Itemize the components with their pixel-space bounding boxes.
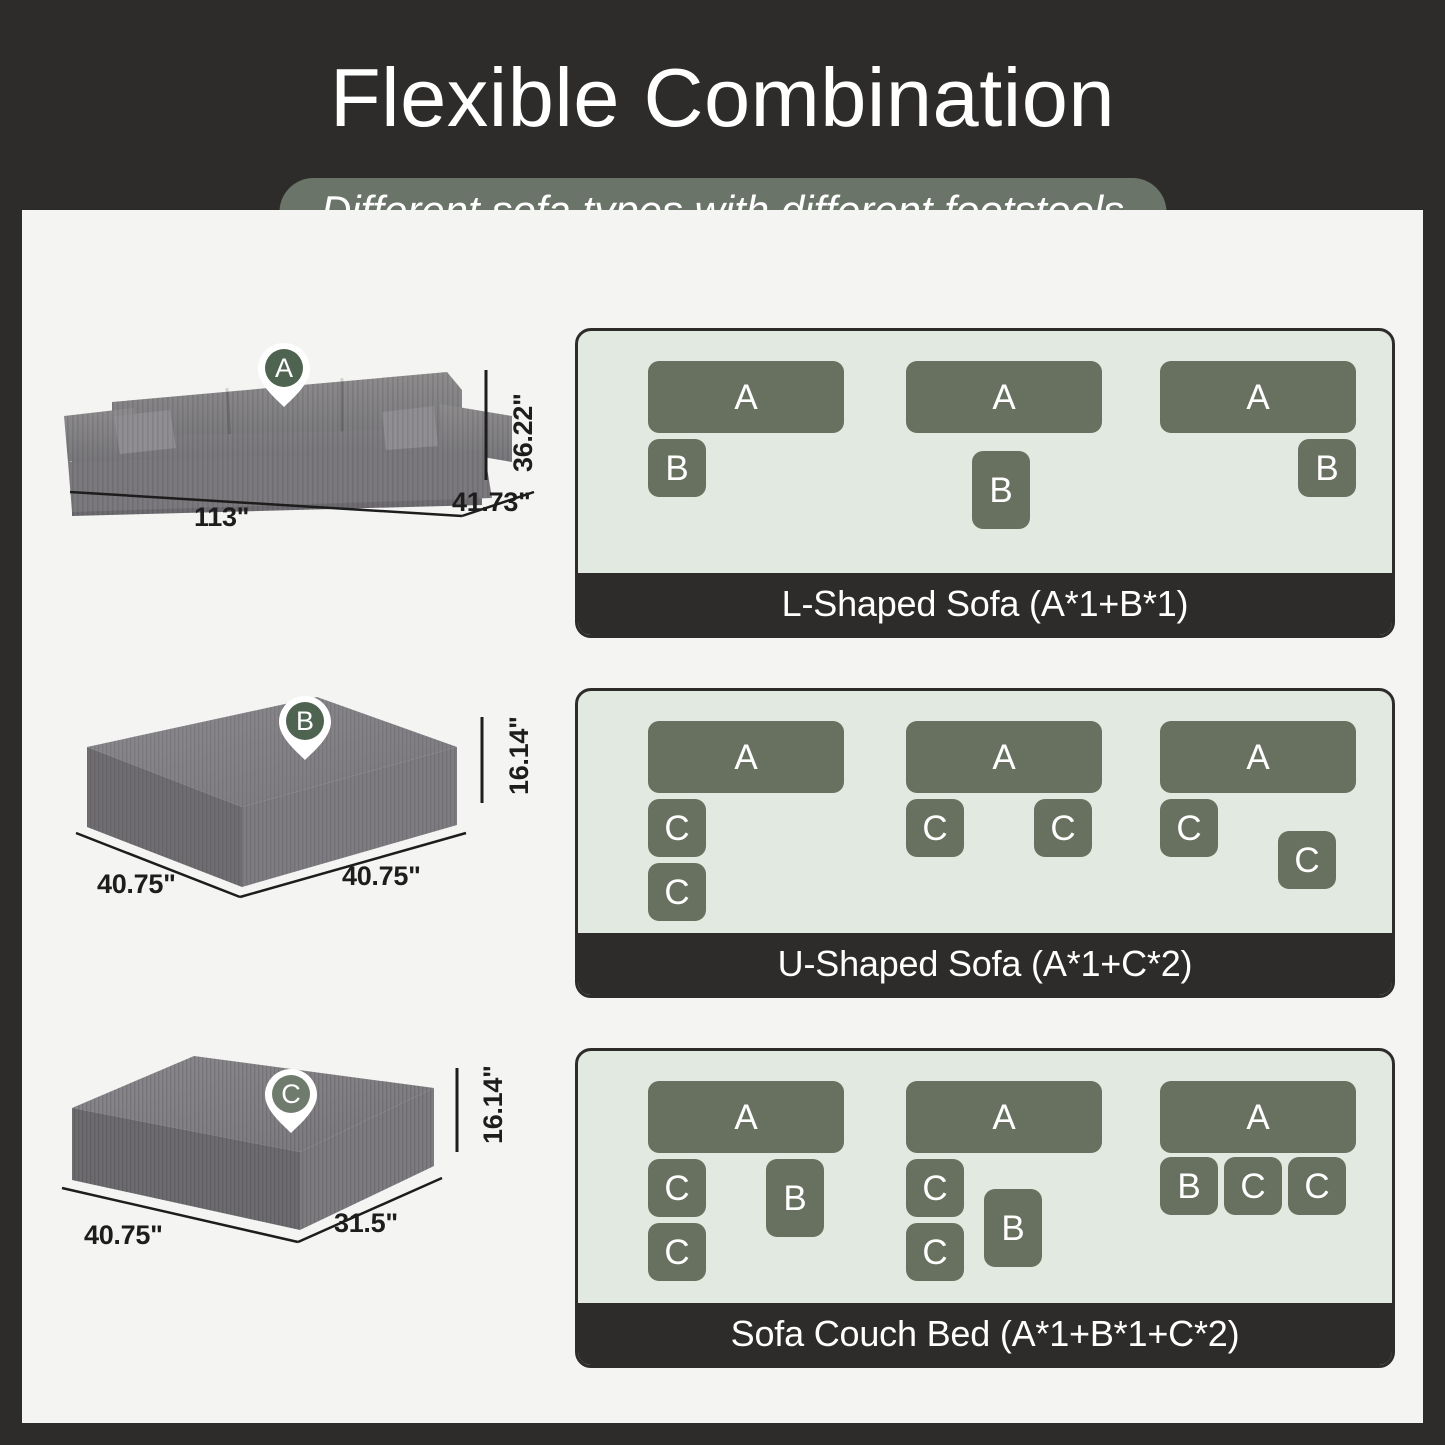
module-block-a: A — [1160, 1081, 1356, 1153]
panel-body: ACC ACC ACC — [578, 691, 1392, 933]
module-block-a: A — [906, 361, 1102, 433]
poster-header: Flexible Combination Different sofa type… — [0, 0, 1445, 210]
config-group: ACC — [628, 691, 858, 933]
module-block-c: C — [648, 863, 706, 921]
panel-caption: L-Shaped Sofa (A*1+B*1) — [578, 573, 1392, 635]
combination-panel-u-shaped: ACC ACC ACC U-Shaped Sofa (A*1+C*2) — [575, 688, 1395, 998]
module-block-c: C — [648, 1159, 706, 1217]
module-block-b: B — [648, 439, 706, 497]
config-group: ABCC — [1140, 1051, 1370, 1303]
combination-panel-l-shaped: AB AB AB L-Shaped Sofa (A*1+B*1) — [575, 328, 1395, 638]
product-figure-b: B 40.75" 40.75" 16.14" — [42, 675, 562, 1005]
product-figure-c: C 40.75" 31.5" 16.14" — [42, 1030, 562, 1360]
pin-badge-b: B — [278, 695, 332, 761]
dimension-depth-b: 40.75" — [342, 861, 421, 892]
module-block-c: C — [906, 799, 964, 857]
poster-root: Flexible Combination Different sofa type… — [0, 0, 1445, 1445]
config-group: AB — [886, 331, 1116, 573]
dimension-depth-a: 41.73" — [452, 487, 531, 518]
config-group: ACC — [1140, 691, 1370, 933]
module-block-a: A — [906, 721, 1102, 793]
module-block-b: B — [766, 1159, 824, 1237]
panel-caption: Sofa Couch Bed (A*1+B*1+C*2) — [578, 1303, 1392, 1365]
dimension-width-a: 113" — [194, 502, 249, 533]
product-figure-a: A 113" 41.73" 36.22" — [42, 320, 562, 650]
module-block-b: B — [972, 451, 1030, 529]
config-group: ACCB — [628, 1051, 858, 1303]
module-block-c: C — [1224, 1157, 1282, 1215]
module-block-a: A — [1160, 361, 1356, 433]
config-group: ACC — [886, 691, 1116, 933]
module-block-b: B — [1298, 439, 1356, 497]
pin-badge-c: C — [264, 1068, 318, 1134]
module-block-a: A — [648, 361, 844, 433]
dimension-depth-c: 31.5" — [334, 1208, 398, 1239]
content-canvas: A 113" 41.73" 36.22" — [22, 210, 1423, 1423]
module-block-a: A — [1160, 721, 1356, 793]
pin-label-b: B — [278, 700, 332, 742]
module-block-c: C — [1160, 799, 1218, 857]
module-block-c: C — [1288, 1157, 1346, 1215]
module-block-c: C — [1278, 831, 1336, 889]
dimension-width-c: 40.75" — [84, 1220, 163, 1251]
combination-panel-couch-bed: ACCB ACCB ABCC Sofa Couch Bed (A*1+B*1+C… — [575, 1048, 1395, 1368]
panel-body: ACCB ACCB ABCC — [578, 1051, 1392, 1303]
module-block-c: C — [648, 799, 706, 857]
pin-label-c: C — [264, 1073, 318, 1115]
module-block-a: A — [648, 1081, 844, 1153]
module-block-b: B — [1160, 1157, 1218, 1215]
dimension-height-c: 16.14" — [478, 1065, 509, 1144]
module-block-c: C — [906, 1159, 964, 1217]
module-block-a: A — [906, 1081, 1102, 1153]
page-title: Flexible Combination — [0, 56, 1445, 139]
module-block-a: A — [648, 721, 844, 793]
panel-body: AB AB AB — [578, 331, 1392, 573]
pin-label-a: A — [257, 347, 311, 389]
module-block-c: C — [906, 1223, 964, 1281]
dimension-height-a: 36.22" — [508, 393, 539, 472]
panel-caption: U-Shaped Sofa (A*1+C*2) — [578, 933, 1392, 995]
config-group: AB — [1140, 331, 1370, 573]
dimension-width-b: 40.75" — [97, 869, 176, 900]
module-block-c: C — [1034, 799, 1092, 857]
config-group: ACCB — [886, 1051, 1116, 1303]
pin-badge-a: A — [257, 342, 311, 408]
dimension-height-b: 16.14" — [504, 716, 535, 795]
config-group: AB — [628, 331, 858, 573]
module-block-c: C — [648, 1223, 706, 1281]
module-block-b: B — [984, 1189, 1042, 1267]
